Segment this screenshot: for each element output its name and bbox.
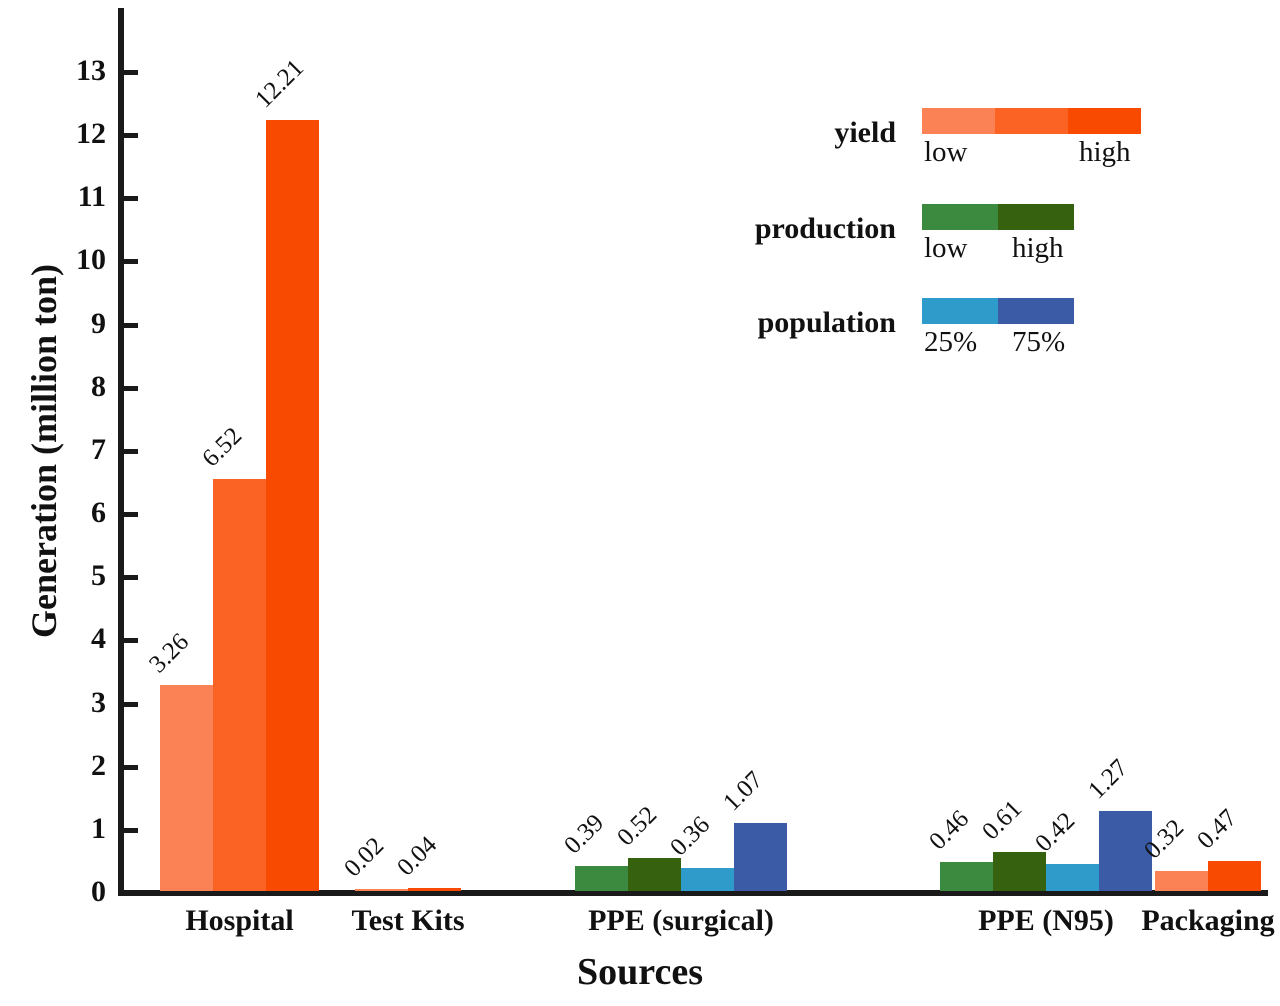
bar bbox=[408, 888, 461, 891]
y-axis-tick-label: 11 bbox=[60, 182, 106, 212]
bar bbox=[213, 479, 266, 891]
legend-swatch bbox=[998, 298, 1074, 324]
y-axis-tick-label: 3 bbox=[60, 688, 106, 718]
y-axis-tick-label: 8 bbox=[60, 372, 106, 402]
legend-colorbar bbox=[922, 204, 1074, 230]
bar-value-label: 0.39 bbox=[559, 810, 610, 861]
legend-scale-high: 75% bbox=[1012, 326, 1065, 359]
bar-value-label: 0.36 bbox=[665, 812, 716, 863]
y-axis-tick-label: 13 bbox=[60, 56, 106, 86]
legend-scale-low: low bbox=[924, 136, 968, 169]
bar-value-label: 0.04 bbox=[392, 832, 443, 883]
bar-chart-figure: 012345678910111213 Generation (million t… bbox=[0, 0, 1280, 1006]
y-axis-tick-label: 10 bbox=[60, 245, 106, 275]
legend-swatch bbox=[922, 298, 998, 324]
legend-scale-low: low bbox=[924, 232, 968, 265]
bar bbox=[1046, 864, 1099, 891]
bar-value-label: 6.52 bbox=[197, 423, 248, 474]
x-axis-group-label: Test Kits bbox=[351, 904, 464, 938]
bar-value-label: 1.07 bbox=[718, 767, 769, 818]
bar-value-label: 3.26 bbox=[144, 628, 195, 679]
legend-scale-high: high bbox=[1079, 136, 1131, 169]
legend-colorbar bbox=[922, 298, 1074, 324]
bar bbox=[160, 685, 213, 891]
y-axis-tick-label: 4 bbox=[60, 624, 106, 654]
bar bbox=[1155, 871, 1208, 891]
y-axis-title: Generation (million ton) bbox=[23, 171, 65, 731]
bar-value-label: 0.47 bbox=[1192, 805, 1243, 856]
legend-series-name: population bbox=[706, 306, 896, 340]
bar bbox=[355, 889, 408, 891]
legend-scale-high: high bbox=[1012, 232, 1064, 265]
legend-series-name: yield bbox=[706, 116, 896, 150]
y-axis-tick-label: 9 bbox=[60, 309, 106, 339]
bar bbox=[266, 120, 319, 891]
legend-swatch bbox=[995, 108, 1068, 134]
bar-value-label: 1.27 bbox=[1083, 754, 1134, 805]
bar-value-label: 0.02 bbox=[339, 832, 390, 883]
legend-swatch bbox=[998, 204, 1074, 230]
bar-value-label: 0.61 bbox=[977, 796, 1028, 847]
legend-colorbar bbox=[922, 108, 1141, 134]
legend-scale-low: 25% bbox=[924, 326, 977, 359]
legend-swatch bbox=[922, 108, 995, 134]
y-axis-tick-label: 6 bbox=[60, 498, 106, 528]
bar-value-label: 0.42 bbox=[1030, 808, 1081, 859]
bar-value-label: 0.52 bbox=[612, 801, 663, 852]
y-axis-tick-label: 7 bbox=[60, 435, 106, 465]
x-axis-group-label: PPE (N95) bbox=[978, 904, 1114, 938]
bar bbox=[734, 823, 787, 891]
bar bbox=[1208, 861, 1261, 891]
legend-swatch bbox=[1068, 108, 1141, 134]
x-axis-group-label: Packaging bbox=[1141, 904, 1274, 938]
bar bbox=[993, 852, 1046, 891]
y-axis-tick-label: 1 bbox=[60, 814, 106, 844]
bar-value-label: 12.21 bbox=[250, 54, 310, 114]
y-axis-tick-label: 0 bbox=[60, 877, 106, 907]
x-axis-group-label: Hospital bbox=[185, 904, 293, 938]
chart-legend: yieldlowhighproductionlowhighpopulation2… bbox=[706, 108, 1186, 378]
bar bbox=[575, 866, 628, 891]
x-axis-group-label: PPE (surgical) bbox=[588, 904, 774, 938]
y-axis-tick-label: 5 bbox=[60, 561, 106, 591]
legend-swatch bbox=[922, 204, 998, 230]
bar bbox=[681, 868, 734, 891]
legend-series-name: production bbox=[706, 212, 896, 246]
x-axis-title: Sources bbox=[0, 950, 1280, 994]
bar bbox=[628, 858, 681, 891]
bar bbox=[940, 862, 993, 891]
y-axis-tick-label: 12 bbox=[60, 119, 106, 149]
y-axis-tick-label: 2 bbox=[60, 751, 106, 781]
bar-value-label: 0.46 bbox=[924, 805, 975, 856]
